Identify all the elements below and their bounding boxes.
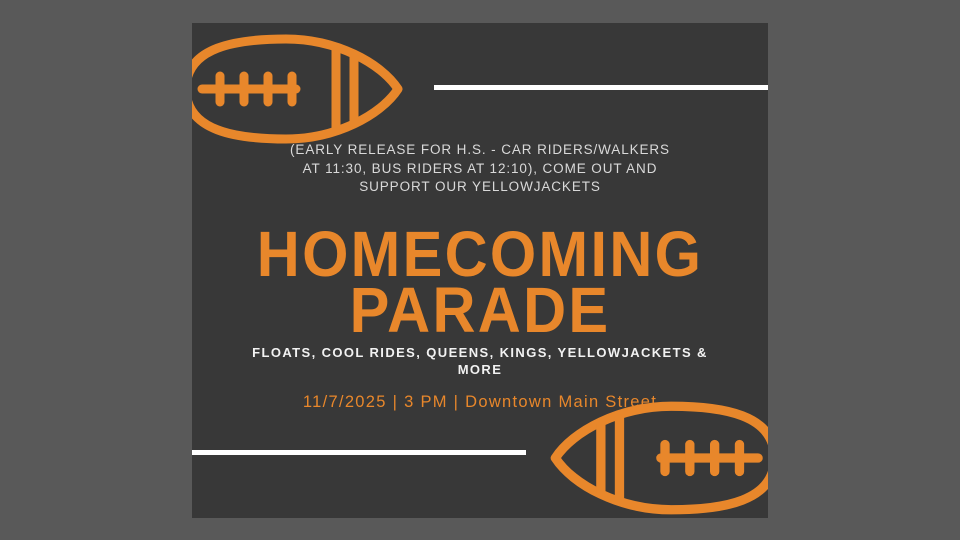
early-release-announcement: (EARLY RELEASE FOR H.S. - CAR RIDERS/WAL… (280, 141, 680, 197)
event-details: 11/7/2025 | 3 PM | Downtown Main Street (280, 391, 680, 413)
headline-line-2: PARADE (212, 282, 748, 338)
homecoming-parade-flyer: (EARLY RELEASE FOR H.S. - CAR RIDERS/WAL… (192, 23, 768, 518)
flyer-canvas: (EARLY RELEASE FOR H.S. - CAR RIDERS/WAL… (0, 0, 960, 540)
flyer-content: (EARLY RELEASE FOR H.S. - CAR RIDERS/WAL… (192, 23, 768, 518)
page-title: HOMECOMING PARADE (192, 226, 768, 338)
event-tagline: FLOATS, COOL RIDES, QUEENS, KINGS, YELLO… (240, 344, 720, 378)
